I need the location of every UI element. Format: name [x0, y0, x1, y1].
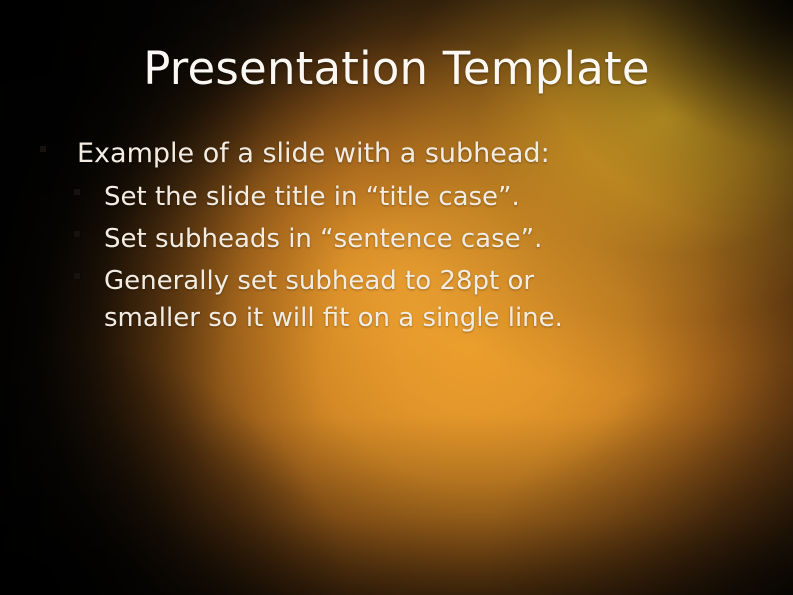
square-bullet-icon: [74, 231, 80, 237]
square-bullet-icon: [74, 273, 80, 279]
list-item-text: Generally set subhead to 28pt or smaller…: [104, 262, 563, 337]
list-item-text-line: Generally set subhead to 28pt or: [104, 263, 563, 300]
list-item-text: Set subheads in “sentence case”.: [104, 220, 542, 258]
list-item-text: Example of a slide with a subhead:: [77, 134, 550, 174]
presentation-slide: Presentation Template Example of a slide…: [0, 0, 793, 595]
list-item: Set the slide title in “title case”.: [74, 178, 741, 216]
slide-body-list: Example of a slide with a subhead: Set t…: [40, 134, 741, 341]
square-bullet-icon: [40, 146, 46, 152]
list-item: Generally set subhead to 28pt or smaller…: [74, 262, 741, 337]
slide-title: Presentation Template: [0, 41, 793, 97]
square-bullet-icon: [74, 189, 80, 195]
list-item: Set subheads in “sentence case”.: [74, 220, 741, 258]
list-item: Example of a slide with a subhead:: [40, 134, 741, 174]
list-item-text: Set the slide title in “title case”.: [104, 178, 520, 216]
list-item-text-line: smaller so it will fit on a single line.: [104, 300, 563, 337]
slide-content: Presentation Template Example of a slide…: [0, 0, 793, 595]
